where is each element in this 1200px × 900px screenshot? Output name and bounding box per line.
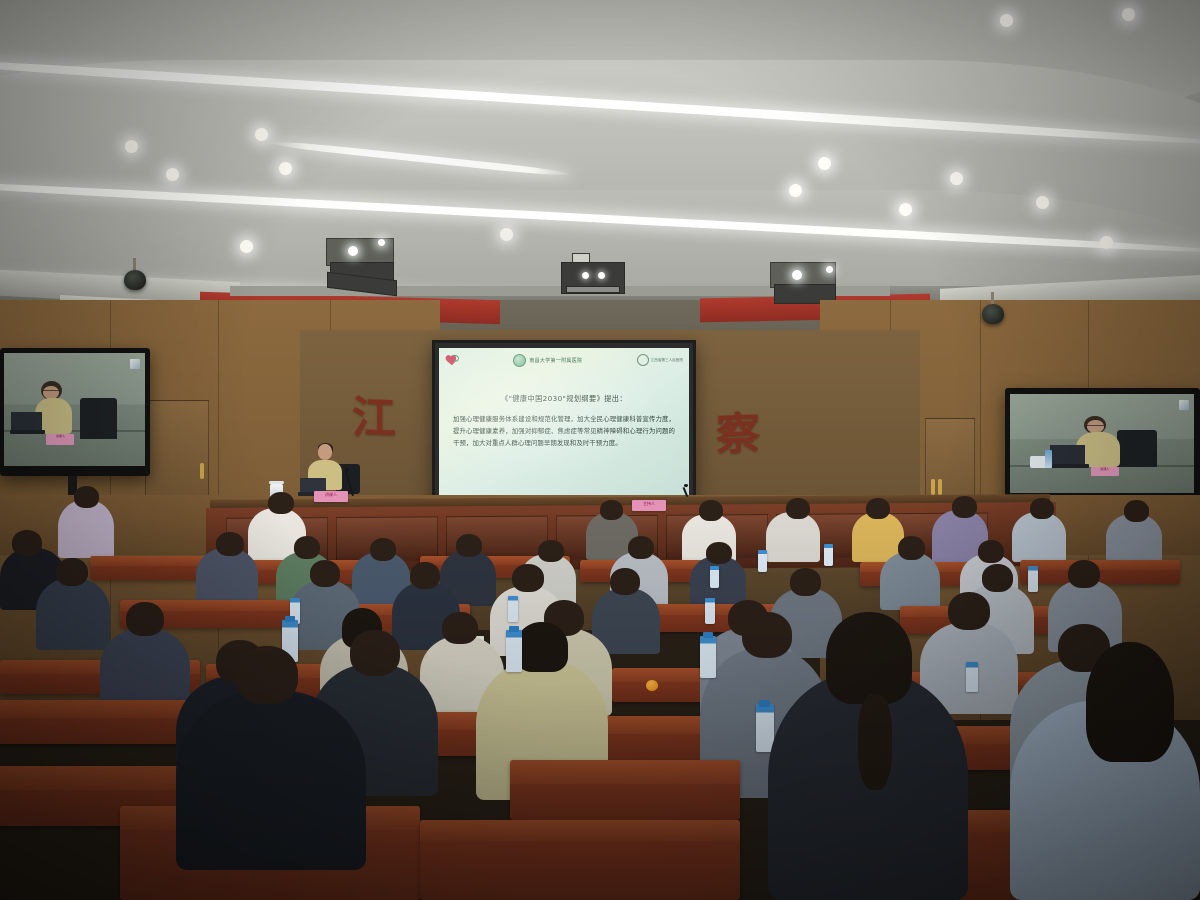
tv-monitor-left: 讲课人 bbox=[0, 348, 150, 476]
video-feed-left: 讲课人 bbox=[4, 353, 145, 466]
name-placard-right: 主持人 bbox=[632, 500, 666, 511]
ceiling-downlight bbox=[899, 203, 912, 216]
bottle-cap bbox=[759, 700, 770, 707]
ceiling-downlight bbox=[1100, 236, 1113, 249]
slide-center-logo: 南昌大学第一附属医院 bbox=[459, 354, 637, 367]
slide-logo-row: 南昌大学第一附属医院 江西省第三人民医院 bbox=[445, 353, 683, 367]
video-name-placard: 讲课人 bbox=[46, 434, 74, 444]
water-bottle bbox=[508, 596, 518, 622]
channel-logo-icon bbox=[130, 359, 140, 369]
water-bottle bbox=[700, 636, 716, 678]
ceiling-downlight bbox=[279, 162, 292, 175]
hospital-logo-icon bbox=[513, 354, 526, 367]
tv-left-screen: 讲课人 bbox=[4, 353, 145, 466]
video-feed-right: 讲课人 bbox=[1010, 394, 1194, 493]
water-bottle bbox=[506, 630, 522, 672]
microphone-head bbox=[345, 468, 349, 471]
bottle-cap bbox=[285, 616, 295, 622]
ceiling-downlight bbox=[818, 157, 831, 170]
slide-title: 《"健康中国2030"规划纲要》提出： bbox=[439, 394, 689, 404]
slide-right-logo: 江西省第三人民医院 bbox=[637, 354, 683, 366]
slide-right-org: 江西省第三人民医院 bbox=[651, 358, 683, 363]
water-bottle bbox=[1028, 566, 1038, 592]
tea-cup-lid bbox=[269, 481, 284, 484]
ceiling-downlight bbox=[166, 168, 179, 181]
conference-hall-photo: 江 西 察 南昌大学第一附属医院 江西省第三人民医院 bbox=[0, 0, 1200, 900]
ceiling-downlight bbox=[789, 184, 802, 197]
org-seal-icon bbox=[637, 354, 649, 366]
calligraphy-char-jiang: 江 bbox=[352, 381, 396, 447]
water-bottle bbox=[705, 598, 715, 624]
video-name-placard: 讲课人 bbox=[1091, 467, 1119, 476]
bottle-cap bbox=[509, 626, 519, 632]
slide-center-org: 南昌大学第一附属医院 bbox=[529, 357, 582, 364]
presentation-slide: 南昌大学第一附属医院 江西省第三人民医院 《"健康中国2030"规划纲要》提出：… bbox=[439, 348, 689, 497]
heart-hands-icon bbox=[445, 354, 459, 366]
ceiling-downlight bbox=[125, 140, 138, 153]
bottle-cap bbox=[703, 632, 713, 638]
tv-monitor-right: 讲课人 bbox=[1005, 388, 1200, 504]
ceiling-downlight bbox=[255, 128, 268, 141]
slide-body-text: 加强心理健康服务体系建设和规范化管理，加大全民心理健康科普宣传力度，提升心理健康… bbox=[453, 414, 675, 450]
tv-right-screen: 讲课人 bbox=[1010, 394, 1194, 493]
channel-logo-icon bbox=[1179, 400, 1189, 410]
microphone-head bbox=[684, 484, 688, 487]
ceiling-downlight bbox=[1000, 14, 1013, 27]
ceiling-downlight bbox=[950, 172, 963, 185]
water-bottle bbox=[824, 544, 833, 566]
ceiling-downlight bbox=[1122, 8, 1135, 21]
name-placard-left: 讲课人 bbox=[314, 491, 348, 502]
orange-fruit bbox=[646, 680, 658, 691]
ceiling-downlight bbox=[500, 228, 513, 241]
calligraphy-char-cha: 察 bbox=[716, 397, 760, 463]
water-bottle bbox=[758, 550, 767, 572]
water-bottle bbox=[966, 662, 978, 692]
ceiling-downlight bbox=[240, 240, 253, 253]
ceiling-downlight bbox=[1036, 196, 1049, 209]
projection-screen: 南昌大学第一附属医院 江西省第三人民医院 《"健康中国2030"规划纲要》提出：… bbox=[432, 340, 696, 506]
water-bottle bbox=[710, 566, 719, 588]
